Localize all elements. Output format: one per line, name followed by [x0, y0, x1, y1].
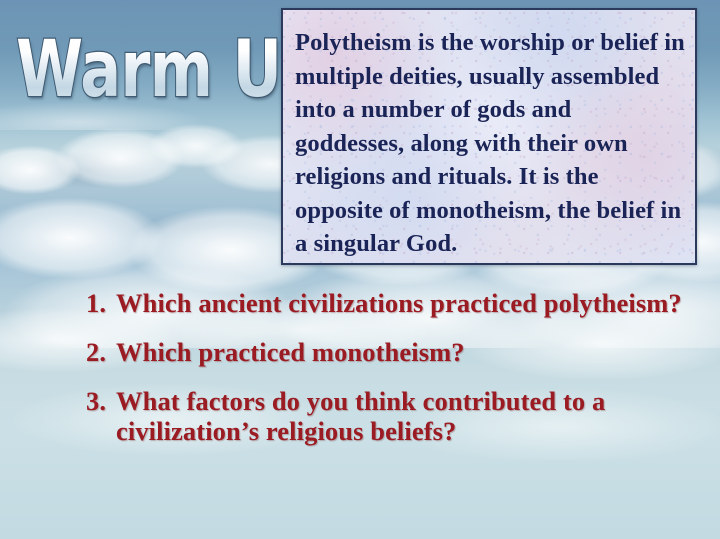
question-number: 3.	[86, 386, 112, 416]
question-text: Which practiced monotheism?	[116, 337, 465, 367]
questions-list: 1. Which ancient civilizations practiced…	[86, 288, 686, 465]
question-number: 2.	[86, 337, 112, 367]
list-item: 1. Which ancient civilizations practiced…	[86, 288, 686, 318]
list-item: 2. Which practiced monotheism?	[86, 337, 686, 367]
slide-canvas: Warm Up Warm Up Polytheism is the worshi…	[0, 0, 720, 539]
list-item: 3. What factors do you think contributed…	[86, 386, 686, 446]
definition-callout-box: Polytheism is the worship or belief in m…	[281, 8, 697, 265]
question-text: What factors do you think contributed to…	[116, 386, 605, 446]
question-text: Which ancient civilizations practiced po…	[116, 288, 682, 318]
definition-text: Polytheism is the worship or belief in m…	[283, 10, 695, 261]
question-number: 1.	[86, 288, 112, 318]
page-title: Warm Up	[16, 30, 324, 110]
